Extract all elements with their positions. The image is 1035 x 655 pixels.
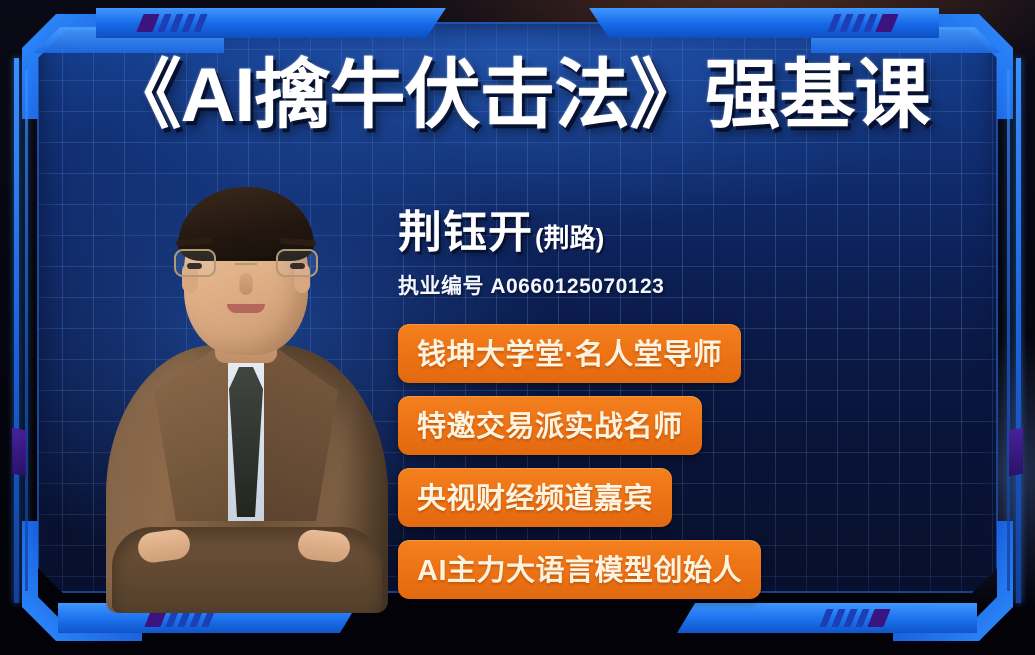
course-promo-poster: 《AI擒牛伏击法》强基课 [0, 0, 1035, 655]
glasses-lens-right-icon [276, 249, 318, 277]
course-title: 《AI擒牛伏击法》强基课 [0, 58, 1035, 134]
credential-badge: AI主力大语言模型创始人 [398, 540, 761, 599]
presenter-photo [96, 183, 396, 613]
credential-badge: 钱坤大学堂·名人堂导师 [398, 324, 741, 383]
glasses-bridge-icon [235, 263, 257, 265]
credential-badge-list: 钱坤大学堂·名人堂导师 特邀交易派实战名师 央视财经频道嘉宾 AI主力大语言模型… [398, 324, 985, 599]
credential-badge: 央视财经频道嘉宾 [398, 468, 672, 527]
presenter-nose [240, 273, 253, 295]
presenter-mouth [227, 304, 265, 313]
license-number: 执业编号 A0660125070123 [398, 270, 985, 300]
presenter-alias: (荆路) [535, 218, 604, 255]
presenter-info: 荆钰开 (荆路) 执业编号 A0660125070123 钱坤大学堂·名人堂导师… [398, 196, 985, 599]
credential-badge: 特邀交易派实战名师 [398, 396, 702, 455]
presenter-name: 荆钰开 [398, 196, 533, 260]
glasses-lens-left-icon [174, 249, 216, 277]
presenter-name-row: 荆钰开 (荆路) [398, 196, 985, 260]
poster-content: 《AI擒牛伏击法》强基课 [0, 0, 1035, 655]
